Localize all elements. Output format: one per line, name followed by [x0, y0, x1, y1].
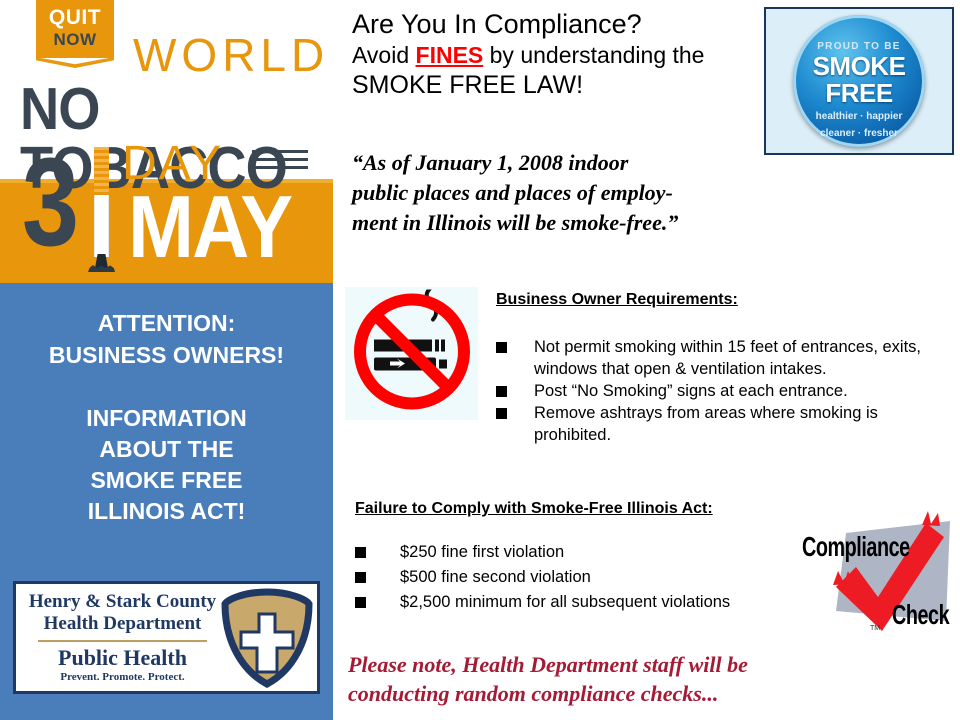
- cigarette-filter-icon: [94, 147, 109, 195]
- list-item: Remove ashtrays from areas where smoking…: [496, 402, 956, 446]
- information-block: INFORMATION ABOUT THE SMOKE FREE ILLINOI…: [0, 371, 333, 527]
- attention-line-2: BUSINESS OWNERS!: [0, 339, 333, 371]
- note-line-2: conducting random compliance checks...: [348, 679, 868, 708]
- hd-name-line-2: Health Department: [24, 613, 221, 635]
- left-column: QUIT NOW WORLD NO TOBACCO 3 DAY MAY ATTE…: [0, 0, 333, 720]
- cigarette-ash-icon: [88, 265, 115, 272]
- headline-line-3: SMOKE FREE LAW!: [352, 70, 752, 101]
- shield-cross-icon: [221, 588, 313, 688]
- law-quote: “As of January 1, 2008 indoor public pla…: [352, 148, 752, 238]
- note-line-1: Please note, Health Department staff wil…: [348, 650, 868, 679]
- badge-free-label: FREE: [793, 81, 925, 106]
- smoke-free-seal-icon: PROUD TO BE SMOKE FREE healthier · happi…: [793, 15, 925, 147]
- quote-line-3: ment in Illinois will be smoke-free.”: [352, 208, 752, 238]
- penalties-heading: Failure to Comply with Smoke-Free Illino…: [355, 500, 713, 518]
- now-label: NOW: [36, 30, 114, 49]
- list-item: $2,500 minimum for all subsequent violat…: [355, 590, 825, 615]
- day-number-label: 3: [22, 140, 79, 265]
- page-title: Are You In Compliance? Avoid FINES by un…: [352, 8, 752, 101]
- quit-label: QUIT: [36, 0, 114, 30]
- compliance-word-label: Compliance: [802, 531, 910, 564]
- smoke-free-illinois-poster: QUIT NOW WORLD NO TOBACCO 3 DAY MAY ATTE…: [0, 0, 960, 720]
- health-department-logo: Henry & Stark County Health Department P…: [13, 581, 320, 694]
- compliance-check-logo: Compliance Check TM: [800, 505, 958, 645]
- headline-line-1: Are You In Compliance?: [352, 8, 752, 40]
- badge-sub-line-2: cleaner · fresher: [793, 128, 925, 140]
- list-item: Post “No Smoking” signs at each entrance…: [496, 380, 956, 402]
- info-line-3: SMOKE FREE: [0, 465, 333, 496]
- badge-sub-line-1: healthier · happier: [793, 111, 925, 123]
- decorative-lines-icon: [252, 150, 308, 174]
- check-word-label: Check: [892, 599, 949, 632]
- attention-block: ATTENTION: BUSINESS OWNERS!: [0, 283, 333, 371]
- info-line-2: ABOUT THE: [0, 434, 333, 465]
- hd-name-line-1: Henry & Stark County: [24, 591, 221, 613]
- quote-line-2: public places and places of employ-: [352, 178, 752, 208]
- list-item: $250 fine first violation: [355, 540, 825, 565]
- attention-line-1: ATTENTION:: [0, 307, 333, 339]
- info-line-4: ILLINOIS ACT!: [0, 496, 333, 527]
- proud-to-be-smoke-free-badge: PROUD TO BE SMOKE FREE healthier · happi…: [764, 7, 954, 155]
- info-line-1: INFORMATION: [0, 403, 333, 434]
- penalties-list: $250 fine first violation $500 fine seco…: [355, 540, 825, 615]
- compliance-note: Please note, Health Department staff wil…: [348, 650, 868, 708]
- quit-now-ribbon: QUIT NOW: [36, 0, 114, 58]
- quote-line-1: “As of January 1, 2008 indoor: [352, 148, 752, 178]
- headline-line-2-tail: by understanding the: [483, 42, 704, 68]
- headline-avoid-text: Avoid: [352, 42, 416, 68]
- list-item: Not permit smoking within 15 feet of ent…: [496, 336, 956, 380]
- hd-divider: [38, 640, 207, 642]
- trademark-label: TM: [870, 625, 880, 632]
- cigarette-body-icon: [94, 195, 109, 257]
- headline-line-2: Avoid FINES by understanding the: [352, 40, 752, 70]
- no-smoking-sign: [345, 287, 478, 420]
- list-item: $500 fine second violation: [355, 565, 825, 590]
- badge-smoke-label: SMOKE: [793, 54, 925, 79]
- hd-tagline: Prevent. Promote. Protect.: [24, 670, 221, 684]
- month-label: MAY: [128, 183, 291, 271]
- world-label: WORLD: [133, 32, 329, 78]
- requirements-heading: Business Owner Requirements:: [496, 291, 738, 309]
- badge-proud-label: PROUD TO BE: [793, 15, 925, 52]
- fines-emphasis: FINES: [416, 42, 484, 68]
- requirements-list: Not permit smoking within 15 feet of ent…: [496, 336, 956, 446]
- health-department-text: Henry & Stark County Health Department P…: [16, 591, 221, 684]
- no-smoking-icon: [350, 289, 474, 418]
- hd-public-health-label: Public Health: [24, 646, 221, 670]
